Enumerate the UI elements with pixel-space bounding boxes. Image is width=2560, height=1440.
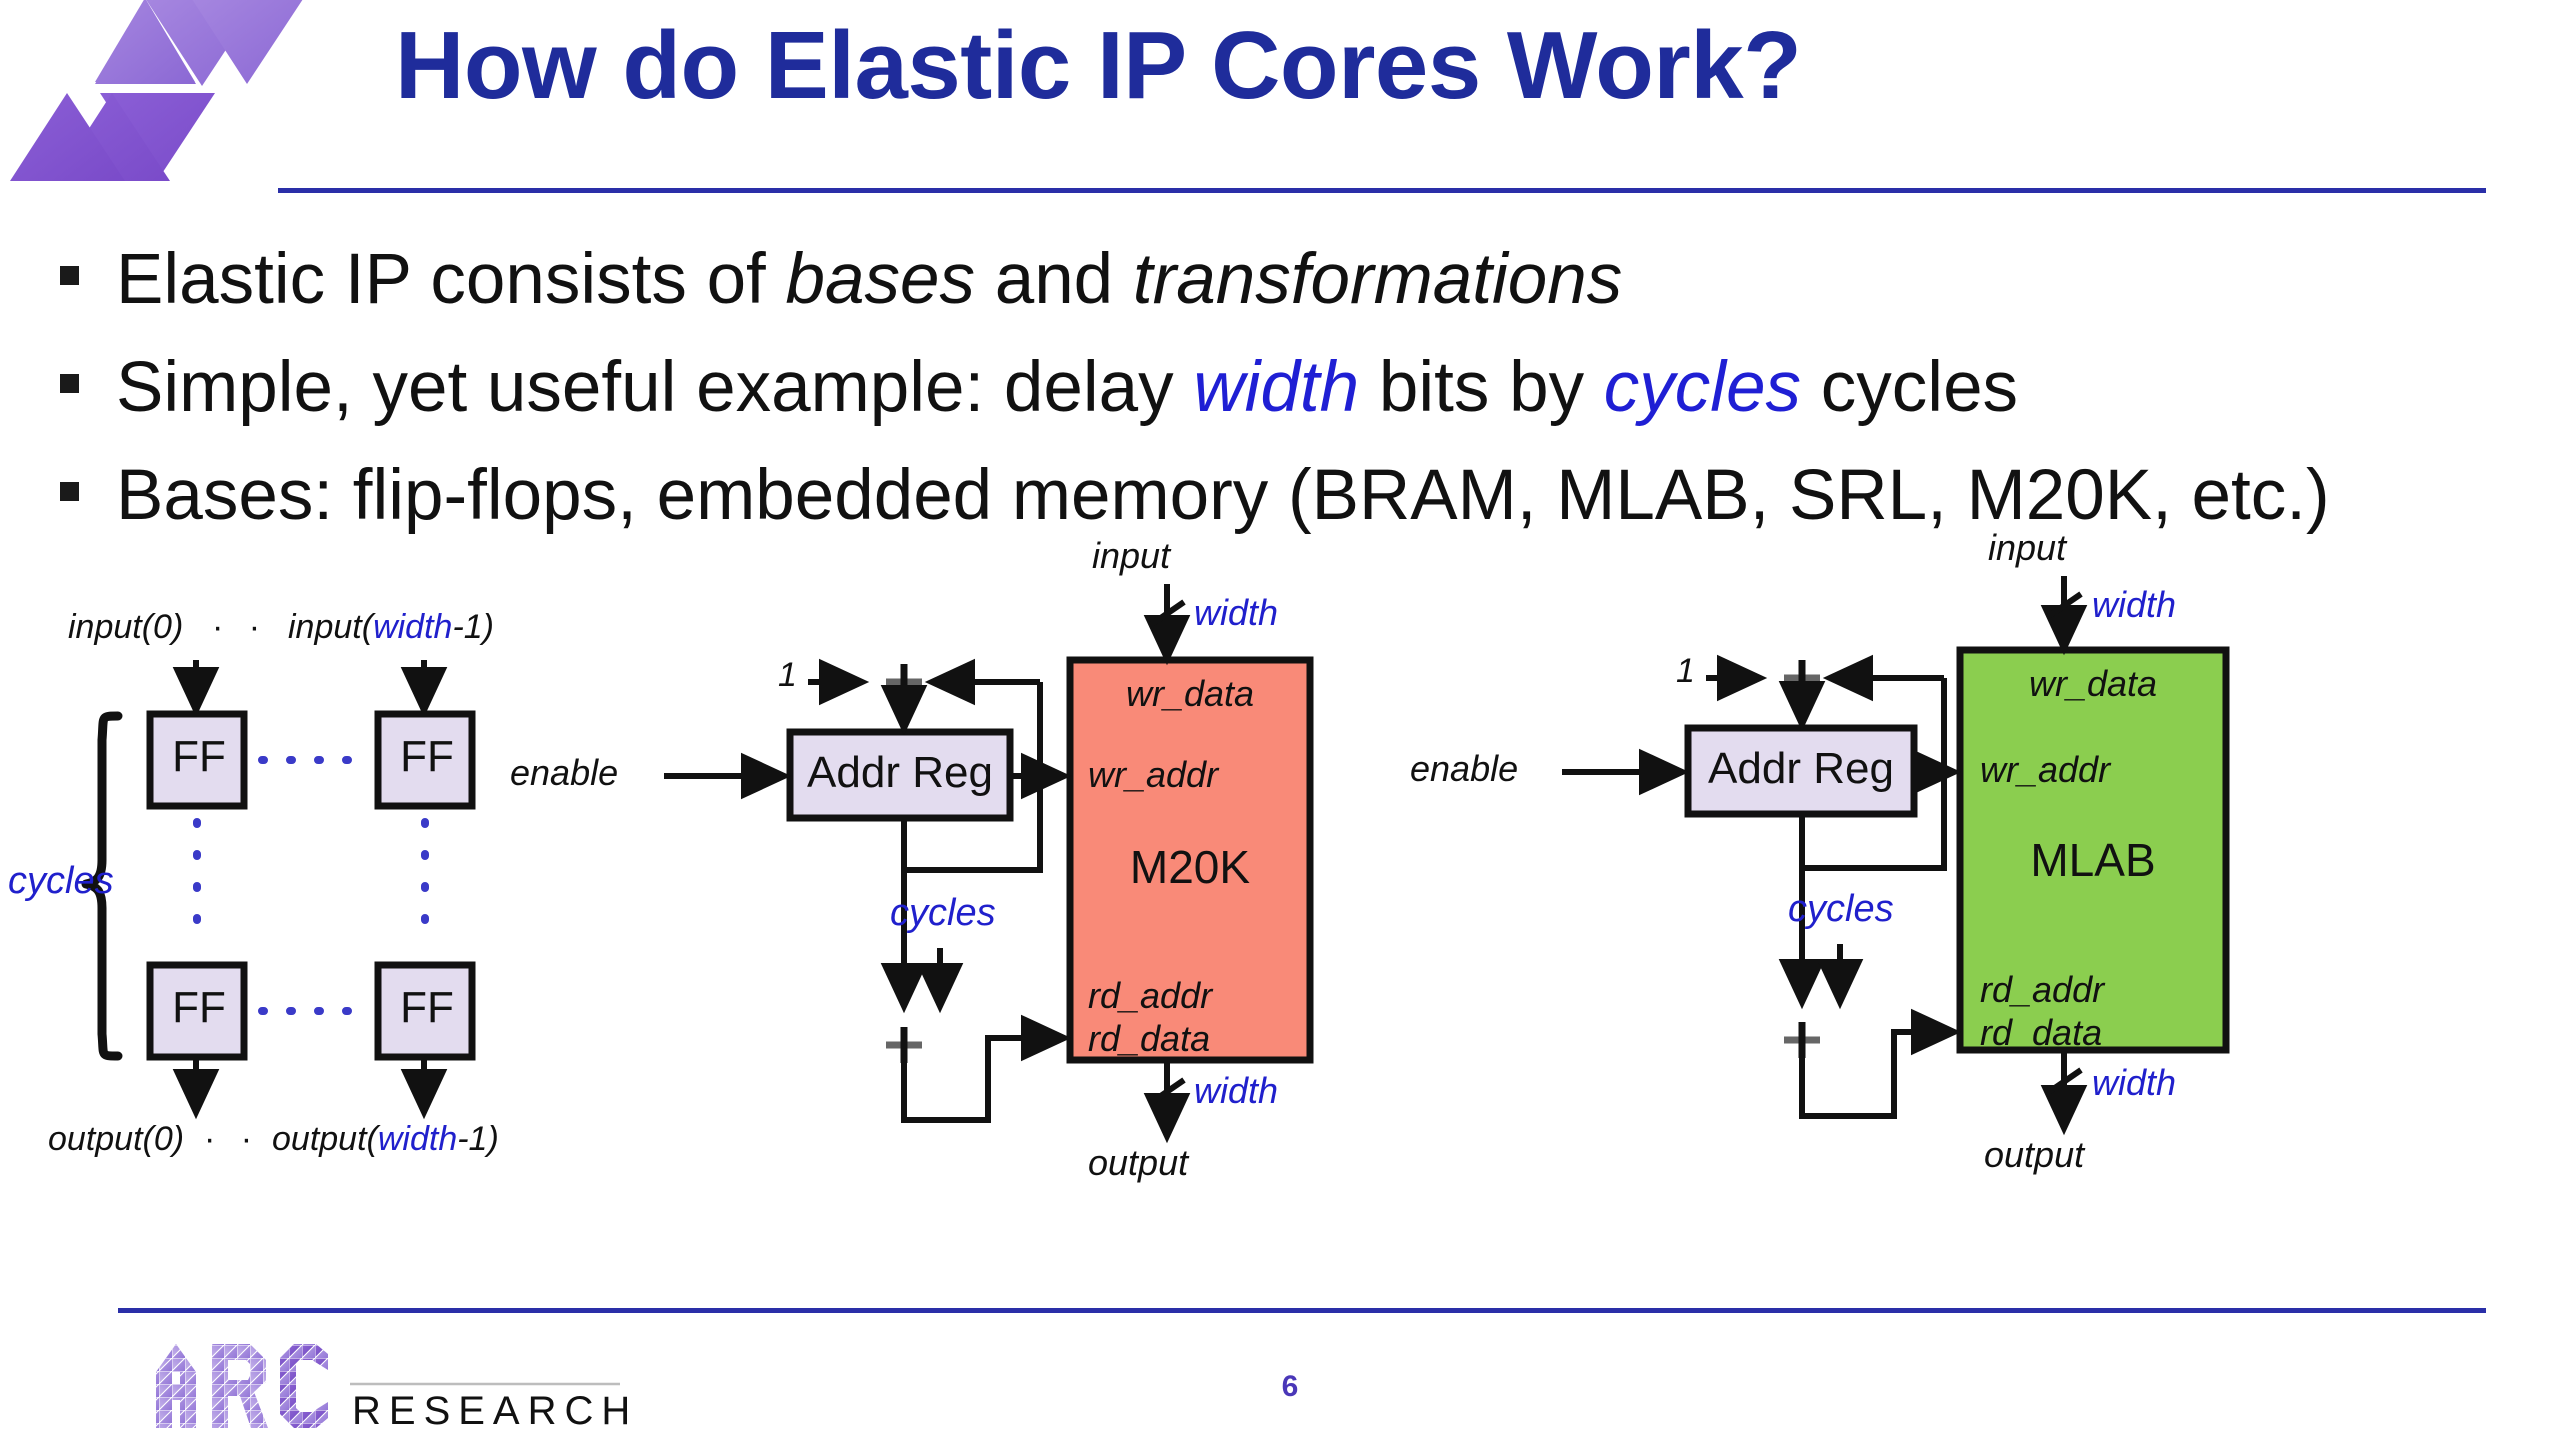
m20k-output-width-label: width bbox=[1194, 1070, 1278, 1112]
m20k-cycles-label: cycles bbox=[890, 892, 996, 935]
mlab-port-wr-addr: wr_addr bbox=[1980, 749, 2110, 791]
m20k-port-rd-data: rd_data bbox=[1088, 1018, 1210, 1060]
bullet-2-part-1: Simple, yet useful example: delay bbox=[116, 348, 1193, 427]
m20k-port-wr-data: wr_data bbox=[1070, 673, 1310, 715]
ff-cycles-label: cycles bbox=[8, 860, 114, 903]
arc-triangles-logo bbox=[0, 0, 380, 194]
bullet-item-1: Elastic IP consists of bases and transfo… bbox=[60, 232, 2530, 340]
mlab-input-label: input bbox=[1988, 527, 2066, 569]
ff-input-right-var: width bbox=[373, 608, 452, 646]
arc-research-logo: RESEARCH bbox=[120, 1332, 680, 1432]
m20k-input-width-label: width bbox=[1194, 592, 1278, 634]
ff-output-right-var: width bbox=[378, 1120, 457, 1158]
ff-output-left-label: output(0) bbox=[48, 1120, 184, 1159]
bullet-1-part-1: Elastic IP consists of bbox=[116, 240, 786, 319]
m20k-addr-reg-label: Addr Reg bbox=[790, 748, 1010, 798]
ff-output-ellipsis: · · bbox=[204, 1120, 260, 1159]
bullet-text-2: Simple, yet useful example: delay width … bbox=[116, 340, 2018, 435]
square-bullet-icon bbox=[60, 482, 86, 508]
bullet-text-1: Elastic IP consists of bases and transfo… bbox=[116, 232, 1622, 327]
mlab-output-label: output bbox=[1984, 1134, 2084, 1176]
ff-input-left-label: input(0) bbox=[68, 608, 183, 647]
diagram-row: FF FF FF FF input(0) · · input(width-1) … bbox=[0, 540, 2560, 1300]
ff-box-label: FF bbox=[380, 732, 474, 782]
m20k-port-wr-addr: wr_addr bbox=[1088, 754, 1218, 796]
title-divider bbox=[278, 188, 2486, 193]
m20k-output-label: output bbox=[1088, 1142, 1188, 1184]
ff-output-right-post: -1) bbox=[457, 1120, 499, 1158]
bullet-item-2: Simple, yet useful example: delay width … bbox=[60, 340, 2530, 448]
ff-input-right-label: input(width-1) bbox=[288, 608, 494, 647]
m20k-enable-label: enable bbox=[510, 752, 618, 794]
ff-input-right-post: -1) bbox=[452, 608, 494, 646]
m20k-block-label: M20K bbox=[1070, 840, 1310, 894]
m20k-input-label: input bbox=[1092, 535, 1170, 577]
ff-box-label: FF bbox=[152, 732, 246, 782]
bullet-1-part-4: transformations bbox=[1133, 240, 1622, 319]
ff-input-ellipsis: · · bbox=[212, 608, 268, 647]
mlab-enable-label: enable bbox=[1410, 748, 1518, 790]
mlab-block-label: MLAB bbox=[1960, 833, 2226, 887]
ff-input-right-pre: input( bbox=[288, 608, 373, 646]
footer-divider bbox=[118, 1308, 2486, 1313]
bullet-2-part-5: cycles bbox=[1801, 348, 2018, 427]
mlab-memory-diagram: wr_data wr_addr MLAB rd_addr rd_data inp… bbox=[1520, 540, 2560, 1300]
ff-box-label: FF bbox=[152, 983, 246, 1033]
mlab-port-rd-addr: rd_addr bbox=[1980, 969, 2104, 1011]
mlab-output-width-label: width bbox=[2092, 1062, 2176, 1104]
m20k-memory-diagram: wr_data wr_addr M20K rd_addr rd_data inp… bbox=[640, 540, 1500, 1300]
ff-output-right-label: output(width-1) bbox=[272, 1120, 499, 1159]
ff-box-label: FF bbox=[380, 983, 474, 1033]
mlab-constant-one-label: 1 bbox=[1676, 652, 1695, 691]
flip-flop-chain-diagram: FF FF FF FF input(0) · · input(width-1) … bbox=[0, 540, 700, 1300]
mlab-port-wr-data: wr_data bbox=[1960, 663, 2226, 705]
bullet-2-part-4: cycles bbox=[1604, 348, 1801, 427]
ff-output-right-pre: output( bbox=[272, 1120, 378, 1158]
mlab-cycles-label: cycles bbox=[1788, 888, 1894, 931]
bullet-2-part-3: bits by bbox=[1359, 348, 1604, 427]
svg-text:RESEARCH: RESEARCH bbox=[352, 1389, 638, 1432]
bullet-1-part-3: and bbox=[975, 240, 1133, 319]
mlab-addr-reg-label: Addr Reg bbox=[1688, 744, 1914, 794]
m20k-constant-one-label: 1 bbox=[778, 656, 797, 695]
bullet-list: Elastic IP consists of bases and transfo… bbox=[60, 232, 2530, 556]
page-number: 6 bbox=[1240, 1370, 1340, 1404]
square-bullet-icon bbox=[60, 374, 86, 400]
square-bullet-icon bbox=[60, 266, 86, 292]
mlab-port-rd-data: rd_data bbox=[1980, 1012, 2102, 1054]
mlab-input-width-label: width bbox=[2092, 584, 2176, 626]
page-title: How do Elastic IP Cores Work? bbox=[395, 18, 2485, 114]
bullet-2-part-2: width bbox=[1193, 348, 1359, 427]
bullet-1-part-2: bases bbox=[786, 240, 975, 319]
m20k-port-rd-addr: rd_addr bbox=[1088, 975, 1212, 1017]
